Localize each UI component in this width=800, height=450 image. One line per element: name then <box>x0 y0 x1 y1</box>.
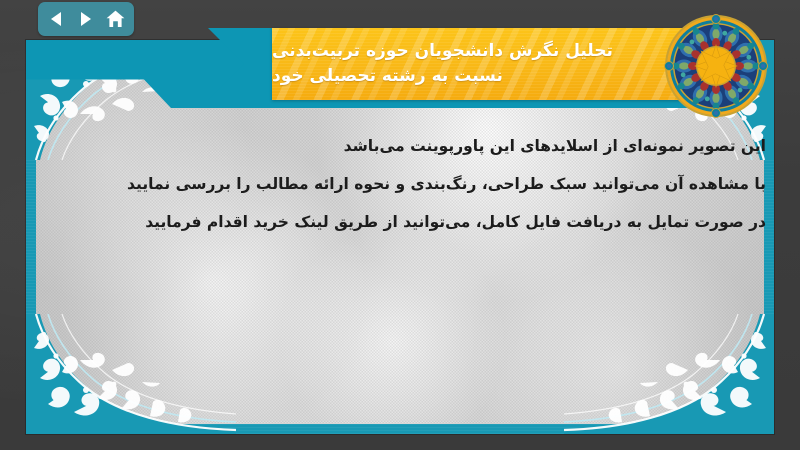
persian-medallion-ornament-icon <box>664 14 768 118</box>
body-line-1: این تصویر نمونه‌ای از اسلایدهای این پاور… <box>106 128 766 166</box>
back-button[interactable] <box>44 7 70 31</box>
body-line-2: با مشاهده آن می‌توانید سبک طراحی، رنگ‌بن… <box>106 166 766 204</box>
back-icon <box>50 11 63 27</box>
navigation-bar[interactable] <box>38 2 134 36</box>
slide-canvas: تحلیل نگرش دانشجویان حوزه تربیت‌بدنی نسب… <box>0 0 800 450</box>
slide-body-text: این تصویر نمونه‌ای از اسلایدهای این پاور… <box>106 128 766 242</box>
forward-icon <box>79 11 92 27</box>
body-line-3: در صورت تمایل به دریافت فایل کامل، می‌تو… <box>106 204 766 242</box>
forward-button[interactable] <box>73 7 99 31</box>
home-icon <box>106 10 125 28</box>
home-button[interactable] <box>102 7 128 31</box>
